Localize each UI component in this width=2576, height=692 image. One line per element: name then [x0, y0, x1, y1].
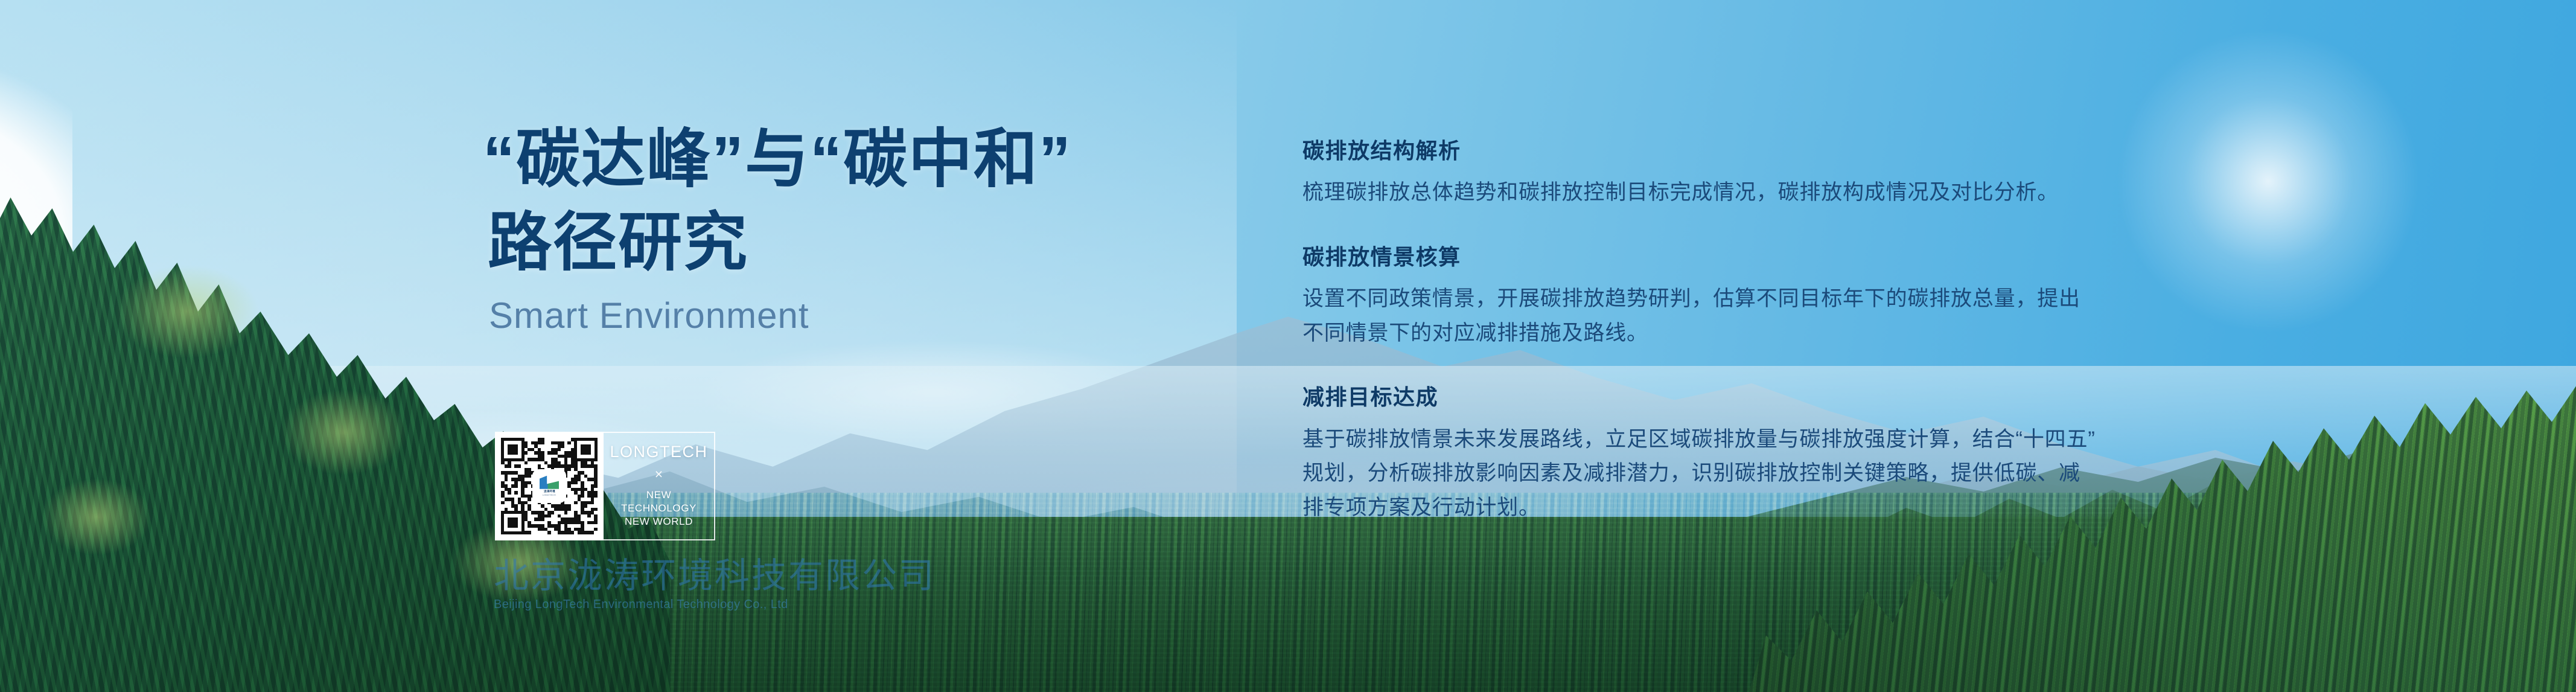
longtech-logo-icon	[540, 476, 559, 489]
qr-logo-sublabel: LONGTECH	[543, 495, 556, 496]
tagline-line-1: NEW	[646, 489, 671, 501]
hero-title-line-2: 路径研究	[483, 202, 1072, 285]
qr-code-matrix[interactable]: 泷涛环境 LONGTECH	[501, 438, 598, 534]
brand-tagline: NEW TECHNOLOGY NEW WORLD	[621, 489, 697, 528]
brand-name: LONGTECH	[610, 444, 707, 460]
qr-finder-pattern	[574, 438, 598, 461]
hero-banner: “碳达峰”与“碳中和” 路径研究 Smart Environment 泷涛环境 …	[0, 0, 2576, 692]
feature-description-line: 不同情景下的对应减排措施及路线。	[1302, 316, 2160, 351]
qr-center-logo: 泷涛环境 LONGTECH	[534, 470, 565, 502]
feature-block: 减排目标达成基于碳排放情景未来发展路线，立足区域碳排放量与碳排放强度计算，结合“…	[1302, 384, 2160, 525]
tagline-line-2: TECHNOLOGY	[621, 502, 697, 514]
feature-description-line: 设置不同政策情景，开展碳排放趋势研判，估算不同目标年下的碳排放总量，提出	[1302, 282, 2160, 316]
qr-code-box[interactable]: 泷涛环境 LONGTECH	[495, 432, 604, 540]
feature-description: 梳理碳排放总体趋势和碳排放控制目标完成情况，碳排放构成情况及对比分析。	[1302, 176, 2160, 210]
hero-subtitle: Smart Environment	[483, 295, 1072, 336]
feature-description: 基于碳排放情景未来发展路线，立足区域碳排放量与碳排放强度计算，结合“十四五”规划…	[1302, 423, 2160, 525]
feature-description-line: 基于碳排放情景未来发展路线，立足区域碳排放量与碳排放强度计算，结合“十四五”	[1302, 423, 2160, 457]
feature-description-line: 排专项方案及行动计划。	[1302, 491, 2160, 525]
feature-block: 碳排放情景核算设置不同政策情景，开展碳排放趋势研判，估算不同目标年下的碳排放总量…	[1302, 244, 2160, 351]
hero-headline: “碳达峰”与“碳中和” 路径研究 Smart Environment	[483, 118, 1072, 336]
hero-title-line-1: “碳达峰”与“碳中和”	[483, 118, 1072, 202]
feature-description: 设置不同政策情景，开展碳排放趋势研判，估算不同目标年下的碳排放总量，提出不同情景…	[1302, 282, 2160, 350]
feature-copy-column: 碳排放结构解析梳理碳排放总体趋势和碳排放控制目标完成情况，碳排放构成情况及对比分…	[1302, 138, 2160, 525]
qr-card[interactable]: 泷涛环境 LONGTECH LONGTECH × NEW TECHNOLOGY …	[495, 432, 715, 540]
qr-brand-panel: LONGTECH × NEW TECHNOLOGY NEW WORLD	[604, 432, 715, 540]
cross-separator-icon: ×	[655, 467, 663, 481]
qr-logo-label: 泷涛环境	[544, 490, 555, 493]
feature-heading: 减排目标达成	[1302, 384, 2160, 410]
feature-description-line: 梳理碳排放总体趋势和碳排放控制目标完成情况，碳排放构成情况及对比分析。	[1302, 176, 2160, 210]
feature-description-line: 规划，分析碳排放影响因素及减排潜力，识别碳排放控制关键策略，提供低碳、减	[1302, 457, 2160, 491]
feature-block: 碳排放结构解析梳理碳排放总体趋势和碳排放控制目标完成情况，碳排放构成情况及对比分…	[1302, 138, 2160, 210]
tagline-line-3: NEW WORLD	[625, 516, 693, 527]
qr-finder-pattern	[501, 511, 524, 534]
feature-heading: 碳排放情景核算	[1302, 244, 2160, 270]
feature-heading: 碳排放结构解析	[1302, 138, 2160, 164]
qr-finder-pattern	[501, 438, 524, 461]
